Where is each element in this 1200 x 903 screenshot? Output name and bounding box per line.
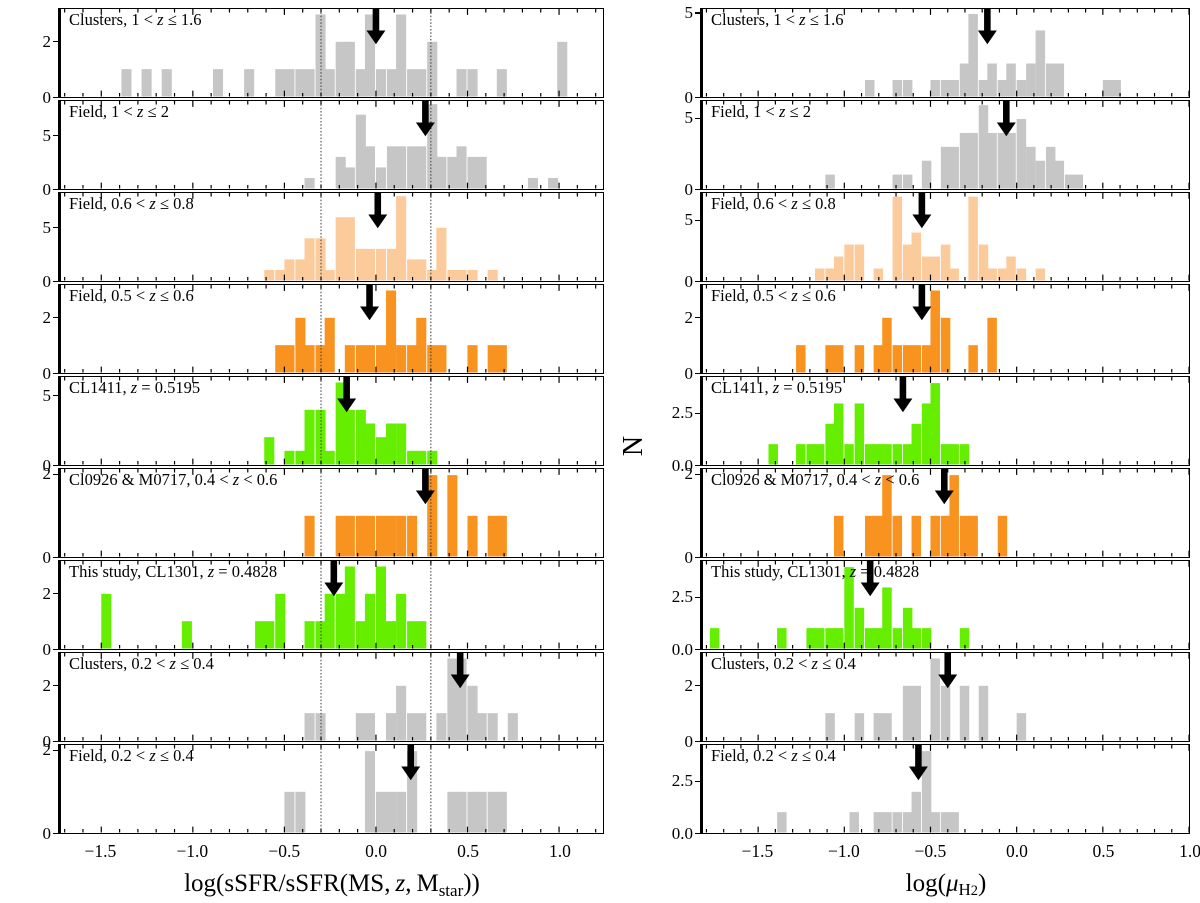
histogram-panel: Field, 0.5 < z ≤ 0.6 [60,284,604,374]
y-axis-spine [58,744,60,834]
histogram-bar [874,345,883,372]
histogram-bar [468,686,478,741]
histogram-bar [457,146,467,188]
histogram-bar [768,444,777,464]
histogram-bar [407,146,417,188]
y-tick-label: 0 [0,88,51,108]
histogram-bar [345,217,355,280]
histogram-bar [376,437,386,464]
histogram-bar [1026,63,1035,96]
histogram-bar [508,713,518,740]
histogram-bar [949,812,958,832]
histogram-bar [960,686,969,741]
histogram-bar [903,245,912,281]
histogram-bar [468,157,478,189]
histogram-bar [336,157,346,189]
histogram-bar [416,621,426,648]
histogram-bar [968,14,977,97]
median-arrow-icon [978,9,997,44]
histogram-bar [777,812,786,832]
y-axis-spine [58,8,60,98]
histogram-bar [903,175,912,189]
histogram-bar [834,257,843,281]
histogram-bar [815,628,824,648]
histogram-bar [447,475,457,556]
histogram-bar [855,608,864,649]
histogram-bar [386,423,396,464]
panel-label: Clusters, 1 < z ≤ 1.6 [711,11,844,28]
histogram-bar [305,713,315,740]
histogram-bar [416,69,426,96]
histogram-bar [244,69,254,96]
y-axis-spine [700,192,702,282]
histogram-bar [345,345,355,372]
histogram-bar [987,63,996,96]
histogram-bar [396,594,406,649]
histogram-bar [1036,269,1045,281]
y-tick-label: 0 [637,732,693,752]
y-tick-label: 0 [637,88,693,108]
x-tick-label: 1.0 [549,841,571,862]
histogram-bar [477,713,487,740]
median-arrow-icon [401,745,420,780]
histogram-bar [436,713,446,740]
y-tick-label: 2 [0,32,51,52]
histogram-bar [960,63,969,96]
histogram-bar [893,444,902,464]
histogram-bar [336,42,346,97]
histogram-bar [407,621,417,648]
y-axis-spine [58,560,60,650]
histogram-bar [376,345,386,372]
histogram-bar [396,516,406,557]
histogram-bar [1036,30,1045,96]
y-tick-label: 5 [637,108,693,128]
histogram-bar [1055,63,1064,96]
histogram-panel: Field, 0.5 < z ≤ 0.6 [702,284,1190,374]
histogram-bar [264,437,274,464]
y-tick-label: 2.5 [637,587,693,607]
histogram-bar [1036,161,1045,189]
histogram-bar [284,345,294,372]
histogram-bar [941,318,950,373]
histogram-bar [874,516,883,557]
y-tick-label: 2 [637,676,693,696]
histogram-bar [365,751,375,832]
histogram-bar [468,516,478,557]
histogram-bar [949,269,958,281]
histogram-bar [386,713,396,740]
histogram-bar [356,69,366,96]
y-tick-label: 0 [0,640,51,660]
histogram-bar [477,157,487,189]
histogram-bar [356,621,366,648]
histogram-bar [488,516,498,557]
histogram-bar [825,424,834,465]
panel-label: Clusters, 0.2 < z ≤ 0.4 [69,655,214,672]
histogram-bar [893,197,902,281]
histogram-bar [396,196,406,280]
y-tick-label: 0 [637,364,693,384]
histogram-bar [336,516,346,557]
y-axis-spine [58,376,60,466]
panel-label: Clusters, 0.2 < z ≤ 0.4 [711,655,856,672]
y-axis-spine [700,468,702,558]
figure-root: 020505020502020202 Clusters, 1 < z ≤ 1.6… [0,0,1200,903]
left-x-axis-title: log(sSFR/sSFR(MS, z, Mstar)) [184,870,480,901]
histogram-bar [941,686,950,741]
y-axis-spine [700,284,702,374]
histogram-bar [295,318,305,373]
histogram-bar [968,197,977,281]
histogram-bar [416,318,426,373]
histogram-bar [376,792,386,833]
histogram-panel: Field, 0.2 < z ≤ 0.4 [702,744,1190,834]
histogram-bar [806,444,815,464]
x-tick-label: −1.0 [176,841,208,862]
histogram-bar [295,451,305,465]
x-tick-label: 0.0 [1006,841,1028,862]
histogram-bar [488,792,498,833]
histogram-bar [987,269,996,281]
histogram-bar [903,812,912,832]
histogram-bar [365,423,375,464]
histogram-bar [960,133,969,189]
median-arrow-icon [912,193,931,228]
histogram-bar [407,345,417,372]
histogram-bar [182,621,192,648]
histogram-bar [295,792,305,833]
histogram-bar [407,713,417,740]
histogram-panel: Clusters, 0.2 < z ≤ 0.4 [60,652,604,742]
panel-label: Cl0926 & M0717, 0.4 < z < 0.6 [711,471,919,488]
histogram-bar [427,345,437,372]
panel-label: Field, 0.2 < z ≤ 0.4 [711,747,836,764]
left-y-tick-labels: 020505020502020202 [4,0,60,903]
histogram-bar [912,424,921,465]
panel-label: Cl0926 & M0717, 0.4 < z < 0.6 [69,471,277,488]
y-tick-label: 0.0 [637,640,693,660]
histogram-bar [865,516,874,557]
histogram-bar [447,658,457,740]
histogram-bar [941,444,950,464]
histogram-bar [356,345,366,372]
y-tick-label: 2 [637,308,693,328]
histogram-bar [497,792,507,833]
y-axis-spine [58,468,60,558]
histogram-bar [407,69,417,96]
histogram-bar [1046,147,1055,189]
histogram-bar [865,628,874,648]
histogram-bar [275,594,285,649]
histogram-bar [305,69,315,96]
histogram-bar [941,516,950,557]
histogram-bar [893,516,902,557]
histogram-bar [806,628,815,648]
histogram-bar [295,259,305,280]
histogram-bar [255,621,265,648]
histogram-bar [557,42,567,97]
histogram-bar [284,792,294,833]
histogram-panel: Cl0926 & M0717, 0.4 < z < 0.6 [702,468,1190,558]
histogram-bar [834,628,843,648]
histogram-bar [1065,175,1074,189]
y-tick-label: 5 [637,3,693,23]
histogram-bar [356,249,366,281]
histogram-bar [949,475,958,556]
histogram-bar [825,713,834,740]
right-y-tick-labels: 050505020.02.5020.02.5020.02.5 [646,0,702,903]
histogram-bar [376,167,386,188]
histogram-bar [968,133,977,189]
histogram-bar [930,516,939,557]
histogram-panel: Field, 0.6 < z ≤ 0.8 [702,192,1190,282]
median-arrow-icon [893,377,912,412]
histogram-bar [365,249,375,281]
histogram-bar [815,269,824,281]
histogram-bar [941,812,950,832]
histogram-bar [264,621,274,648]
y-tick-label: 5 [637,210,693,230]
histogram-bar [447,792,457,833]
panel-label: Field, 0.6 < z ≤ 0.8 [711,195,836,212]
left-y-axis-label: N [0,436,8,456]
median-arrow-icon [938,653,957,688]
x-tick-label: 0.5 [457,841,479,862]
histogram-bar [855,245,864,281]
y-axis-spine [700,8,702,98]
histogram-bar [865,444,874,464]
histogram-bar [1017,119,1026,188]
median-arrow-icon [997,101,1016,136]
histogram-bar [930,257,939,281]
histogram-bar [387,249,397,281]
histogram-panel: Clusters, 1 < z ≤ 1.6 [702,8,1190,98]
histogram-bar [979,245,988,281]
x-tick-label: −0.5 [268,841,300,862]
histogram-bar [987,133,996,189]
histogram-bar [386,290,396,372]
histogram-bar [345,516,355,557]
histogram-bar [497,516,507,557]
histogram-bar [325,270,335,281]
x-tick-label: 0.5 [1093,841,1115,862]
histogram-bar [893,345,902,372]
panel-label: Clusters, 1 < z ≤ 1.6 [69,11,202,28]
histogram-bar [882,713,891,740]
histogram-bar [922,403,931,464]
histogram-bar [1055,161,1064,189]
histogram-bar [101,594,111,649]
histogram-bar [416,146,426,188]
histogram-bar [855,713,864,740]
histogram-bar [930,290,939,372]
y-tick-label: 2.5 [637,403,693,423]
histogram-bar [497,69,507,96]
histogram-bar [356,713,366,740]
histogram-bar [305,345,315,372]
y-tick-label: 2 [0,676,51,696]
histogram-bar [949,80,958,97]
histogram-bar [882,812,891,832]
histogram-bar [416,259,426,280]
panel-label: Field, 0.6 < z ≤ 0.8 [69,195,194,212]
histogram-panel: Clusters, 1 < z ≤ 1.6 [60,8,604,98]
histogram-bar [305,410,315,465]
histogram-bar [447,157,457,189]
panel-label: Field, 0.5 < z ≤ 0.6 [711,287,836,304]
histogram-bar [305,238,315,280]
histogram-bar [468,345,478,372]
histogram-bar [834,345,843,372]
x-tick-label: 1.0 [1179,841,1200,862]
histogram-bar [345,410,355,465]
histogram-bar [387,146,397,188]
histogram-bar [912,686,921,741]
histogram-bar [849,812,858,832]
y-axis-spine [58,652,60,742]
histogram-bar [903,608,912,649]
histogram-bar [457,792,467,833]
y-tick-label: 0 [637,272,693,292]
histogram-bar [477,792,487,833]
histogram-bar [295,69,305,96]
histogram-bar [1006,257,1015,281]
histogram-panel: CL1411, z = 0.5195 [702,376,1190,466]
histogram-bar [968,516,977,557]
histogram-bar [386,792,396,833]
right-y-axis-label: N [618,436,650,456]
histogram-bar [162,69,172,96]
histogram-bar [284,69,294,96]
histogram-bar [468,69,478,96]
histogram-bar [416,451,426,465]
histogram-bar [912,792,921,833]
histogram-bar [376,69,386,96]
histogram-bar [387,69,397,96]
histogram-bar [1017,80,1026,97]
histogram-bar [376,566,386,648]
histogram-bar [356,410,366,465]
histogram-bar [427,475,437,556]
histogram-bar [213,69,223,96]
x-tick-label: −1.5 [85,841,117,862]
y-tick-label: 0 [0,272,51,292]
histogram-bar [882,444,891,464]
y-axis-spine [58,192,60,282]
histogram-bar [882,318,891,373]
histogram-bar [386,516,396,557]
histogram-bar [834,516,843,557]
histogram-panel: This study, CL1301, z = 0.4828 [60,560,604,650]
y-tick-label: 0 [0,180,51,200]
histogram-bar [396,792,406,833]
histogram-bar [979,80,988,97]
histogram-bar [922,751,931,832]
histogram-bar [548,178,558,189]
histogram-bar [1006,63,1015,96]
histogram-bar [960,516,969,557]
histogram-bar [796,444,805,464]
histogram-bar [528,178,538,189]
histogram-bar [457,69,467,96]
histogram-panel: This study, CL1301, z = 0.4828 [702,560,1190,650]
histogram-bar [488,270,498,281]
histogram-bar [1006,133,1015,189]
y-tick-label: 5 [0,126,51,146]
y-axis-spine [700,744,702,834]
histogram-bar [903,686,912,741]
histogram-bar [427,451,437,465]
histogram-panel: CL1411, z = 0.5195 [60,376,604,466]
panel-label: CL1411, z = 0.5195 [711,379,842,396]
histogram-bar [365,146,375,188]
y-tick-label: 0.0 [637,824,693,844]
y-tick-label: 5 [0,386,51,406]
histogram-bar [365,516,375,557]
histogram-bar [844,444,853,464]
histogram-bar [336,594,346,649]
histogram-bar [121,69,131,96]
histogram-bar [968,345,977,372]
histogram-bar [365,345,375,372]
histogram-bar [325,318,335,373]
histogram-bar [396,146,406,188]
median-arrow-icon [912,285,931,320]
histogram-bar [436,228,446,281]
histogram-bar [1017,713,1026,740]
histogram-bar [998,516,1007,557]
histogram-bar [468,792,478,833]
y-axis-spine [58,284,60,374]
y-axis-spine [700,100,702,190]
histogram-bar [396,345,406,372]
histogram-bar [949,147,958,189]
histogram-bar [796,345,805,372]
histogram-bar [844,245,853,281]
histogram-bar [1026,147,1035,189]
x-tick-label: −0.5 [915,841,947,862]
histogram-bar [949,444,958,464]
histogram-bar [1017,269,1026,281]
histogram-bar [497,345,507,372]
histogram-bar [396,686,406,741]
histogram-bar [979,105,988,188]
histogram-bar [284,451,294,465]
histogram-bar [305,621,315,648]
y-tick-label: 0 [0,824,51,844]
histogram-bar [903,444,912,464]
y-tick-label: 0 [637,548,693,568]
histogram-bar [427,270,437,281]
histogram-bar [1103,80,1112,97]
histogram-bar [1074,175,1083,189]
histogram-bar [325,69,335,96]
histogram-bar [930,383,939,464]
histogram-bar [865,80,874,97]
histogram-bar [336,217,346,280]
histogram-bar [345,566,355,648]
histogram-bar [825,345,834,372]
y-tick-label: 0 [0,548,51,568]
y-tick-label: 0 [637,180,693,200]
histogram-bar [987,318,996,373]
y-tick-label: 2 [0,308,51,328]
histogram-panel: Field, 0.6 < z ≤ 0.8 [60,192,604,282]
histogram-bar [882,587,891,648]
x-tick-label: −1.5 [742,841,774,862]
histogram-bar [396,14,406,96]
